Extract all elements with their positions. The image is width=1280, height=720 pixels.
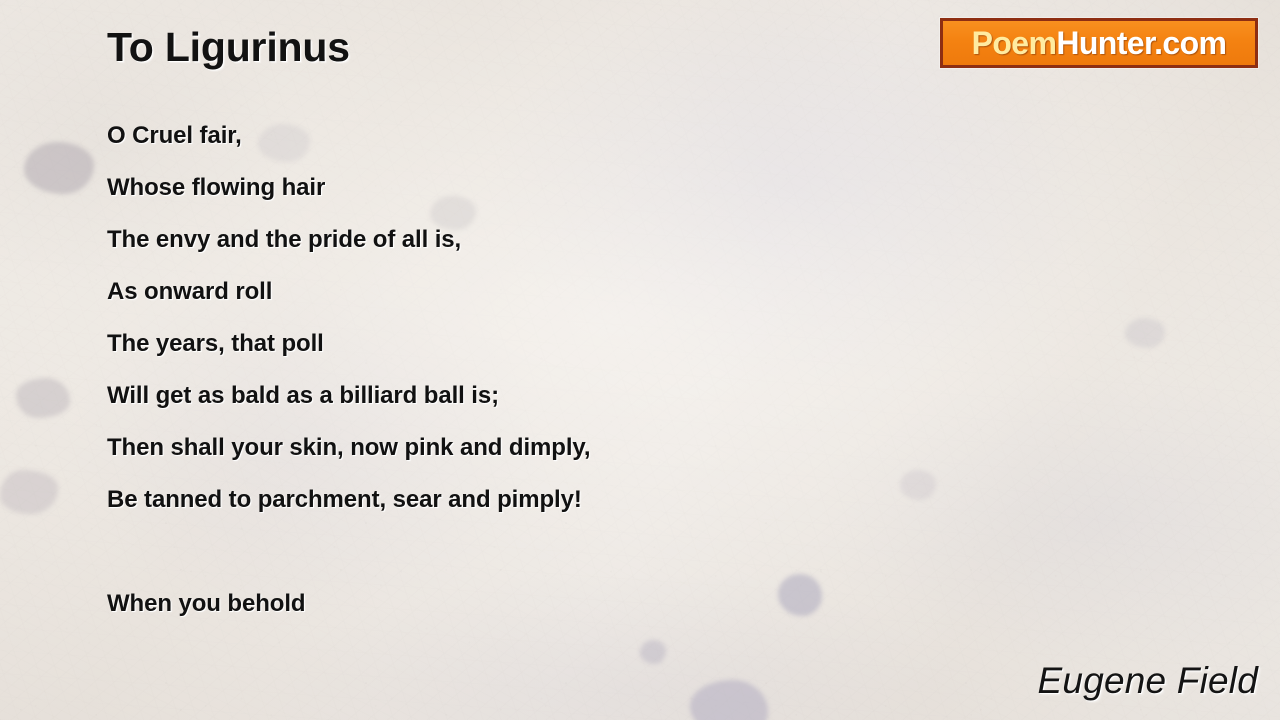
- poemhunter-logo[interactable]: PoemHunter.com: [940, 18, 1258, 68]
- poem-text-body: O Cruel fair, Whose flowing hair The env…: [107, 110, 927, 630]
- poem-line-blank: [107, 526, 927, 578]
- poemhunter-logo-text: PoemHunter.com: [972, 27, 1227, 59]
- poem-line: The years, that poll: [107, 318, 927, 370]
- poem-line: When you behold: [107, 578, 927, 630]
- poem-content: To Ligurinus O Cruel fair, Whose flowing…: [0, 0, 1280, 720]
- logo-word-poem: Poem: [972, 25, 1057, 61]
- poem-line: Be tanned to parchment, sear and pimply!: [107, 474, 927, 526]
- poem-line: Then shall your skin, now pink and dimpl…: [107, 422, 927, 474]
- poem-line: The envy and the pride of all is,: [107, 214, 927, 266]
- poem-line: As onward roll: [107, 266, 927, 318]
- logo-word-hunter: Hunter.com: [1056, 25, 1226, 61]
- page-title: To Ligurinus: [107, 24, 350, 71]
- poem-line: Whose flowing hair: [107, 162, 927, 214]
- poem-image-card: To Ligurinus O Cruel fair, Whose flowing…: [0, 0, 1280, 720]
- poem-line: O Cruel fair,: [107, 110, 927, 162]
- poem-line: Will get as bald as a billiard ball is;: [107, 370, 927, 422]
- poem-author-name: Eugene Field: [1038, 660, 1258, 702]
